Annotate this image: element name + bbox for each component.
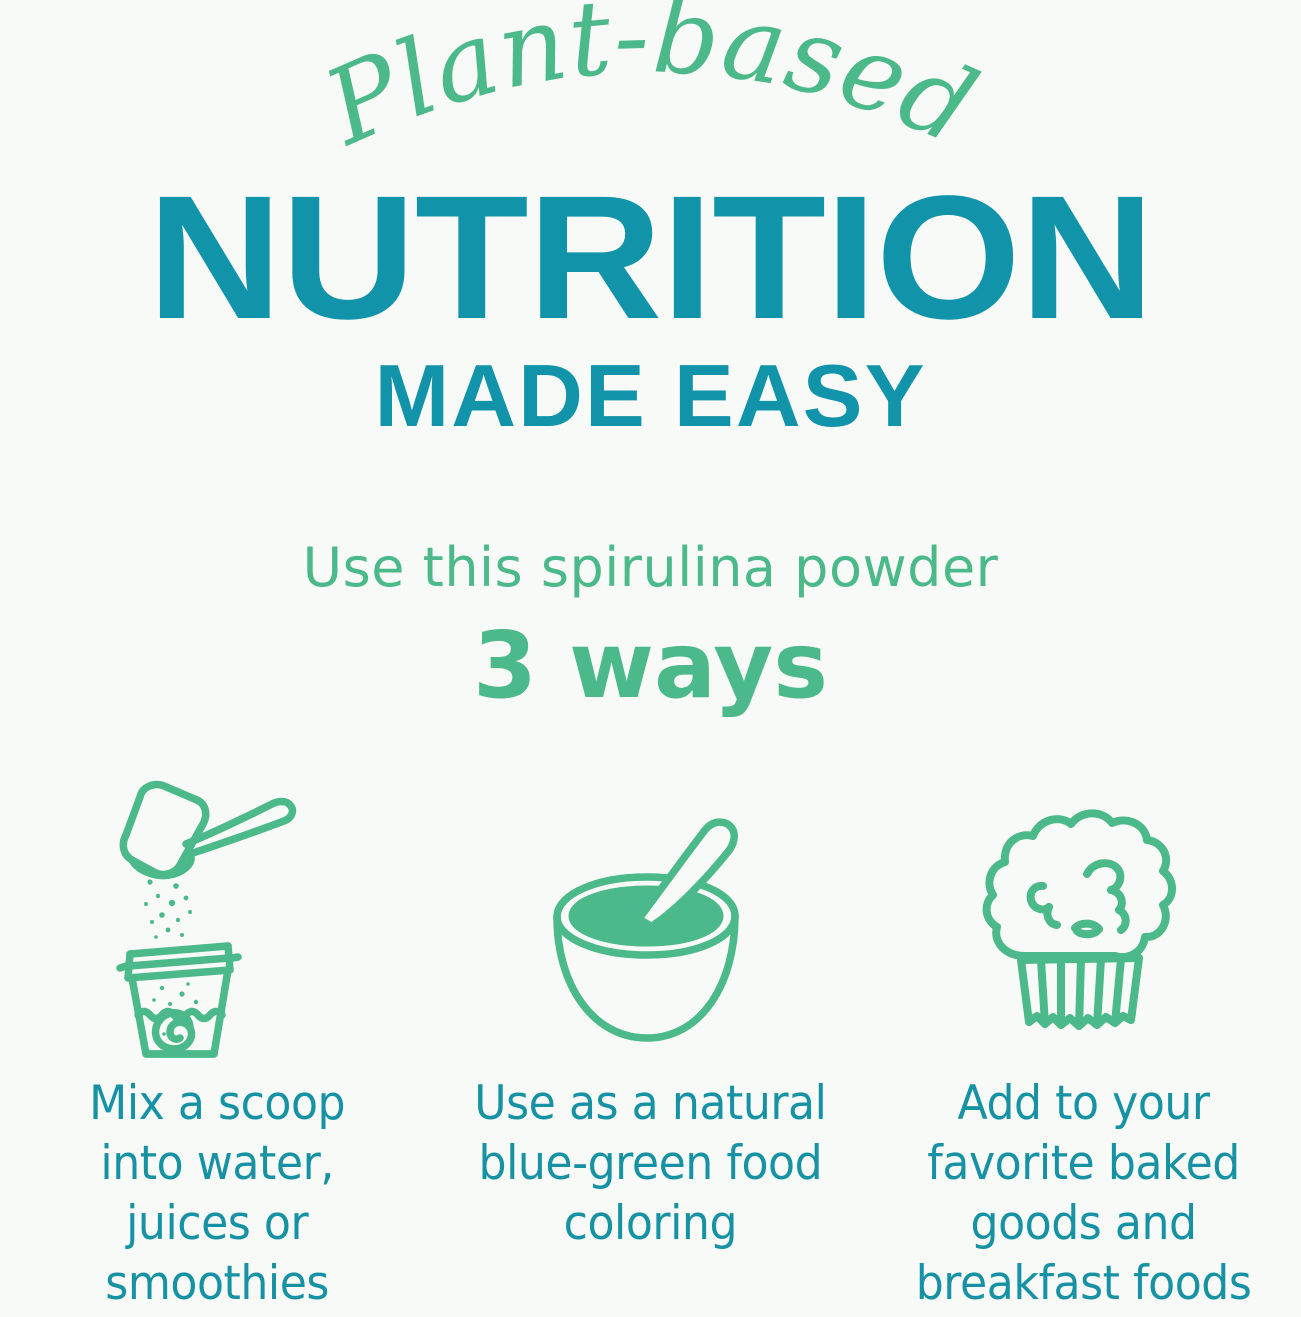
infographic-poster: Plant-based NUTRITION MADE EASY Use this… bbox=[0, 0, 1301, 1317]
shaker-cup-with-scoop-icon bbox=[102, 770, 332, 1060]
ways-row: Mix a scoop into water, juices or smooth… bbox=[0, 770, 1301, 1317]
way-1-caption: Mix a scoop into water, juices or smooth… bbox=[89, 1074, 345, 1315]
intro-emphasis-text: 3 ways bbox=[0, 612, 1301, 719]
muffin-icon bbox=[969, 770, 1199, 1060]
eyebrow-arc-svg: Plant-based bbox=[301, 18, 1001, 168]
way-item-1: Mix a scoop into water, juices or smooth… bbox=[0, 770, 434, 1315]
way-2-caption: Use as a natural blue-green food colorin… bbox=[474, 1074, 826, 1254]
way-3-caption: Add to your favorite baked goods and bre… bbox=[916, 1074, 1252, 1315]
way-2-icon-wrap bbox=[535, 770, 765, 1060]
way-item-3: Add to your favorite baked goods and bre… bbox=[867, 770, 1301, 1315]
page-title: NUTRITION bbox=[0, 183, 1301, 334]
bowl-with-spoon-icon bbox=[535, 770, 765, 1060]
intro-lead-text: Use this spirulina powder bbox=[0, 536, 1301, 599]
way-3-icon-wrap bbox=[969, 770, 1199, 1060]
eyebrow-text: Plant-based bbox=[306, 0, 993, 170]
way-item-2: Use as a natural blue-green food colorin… bbox=[434, 770, 868, 1254]
eyebrow-script-wrap: Plant-based bbox=[0, 18, 1301, 168]
page-subtitle: MADE EASY bbox=[0, 352, 1301, 440]
way-1-icon-wrap bbox=[102, 770, 332, 1060]
